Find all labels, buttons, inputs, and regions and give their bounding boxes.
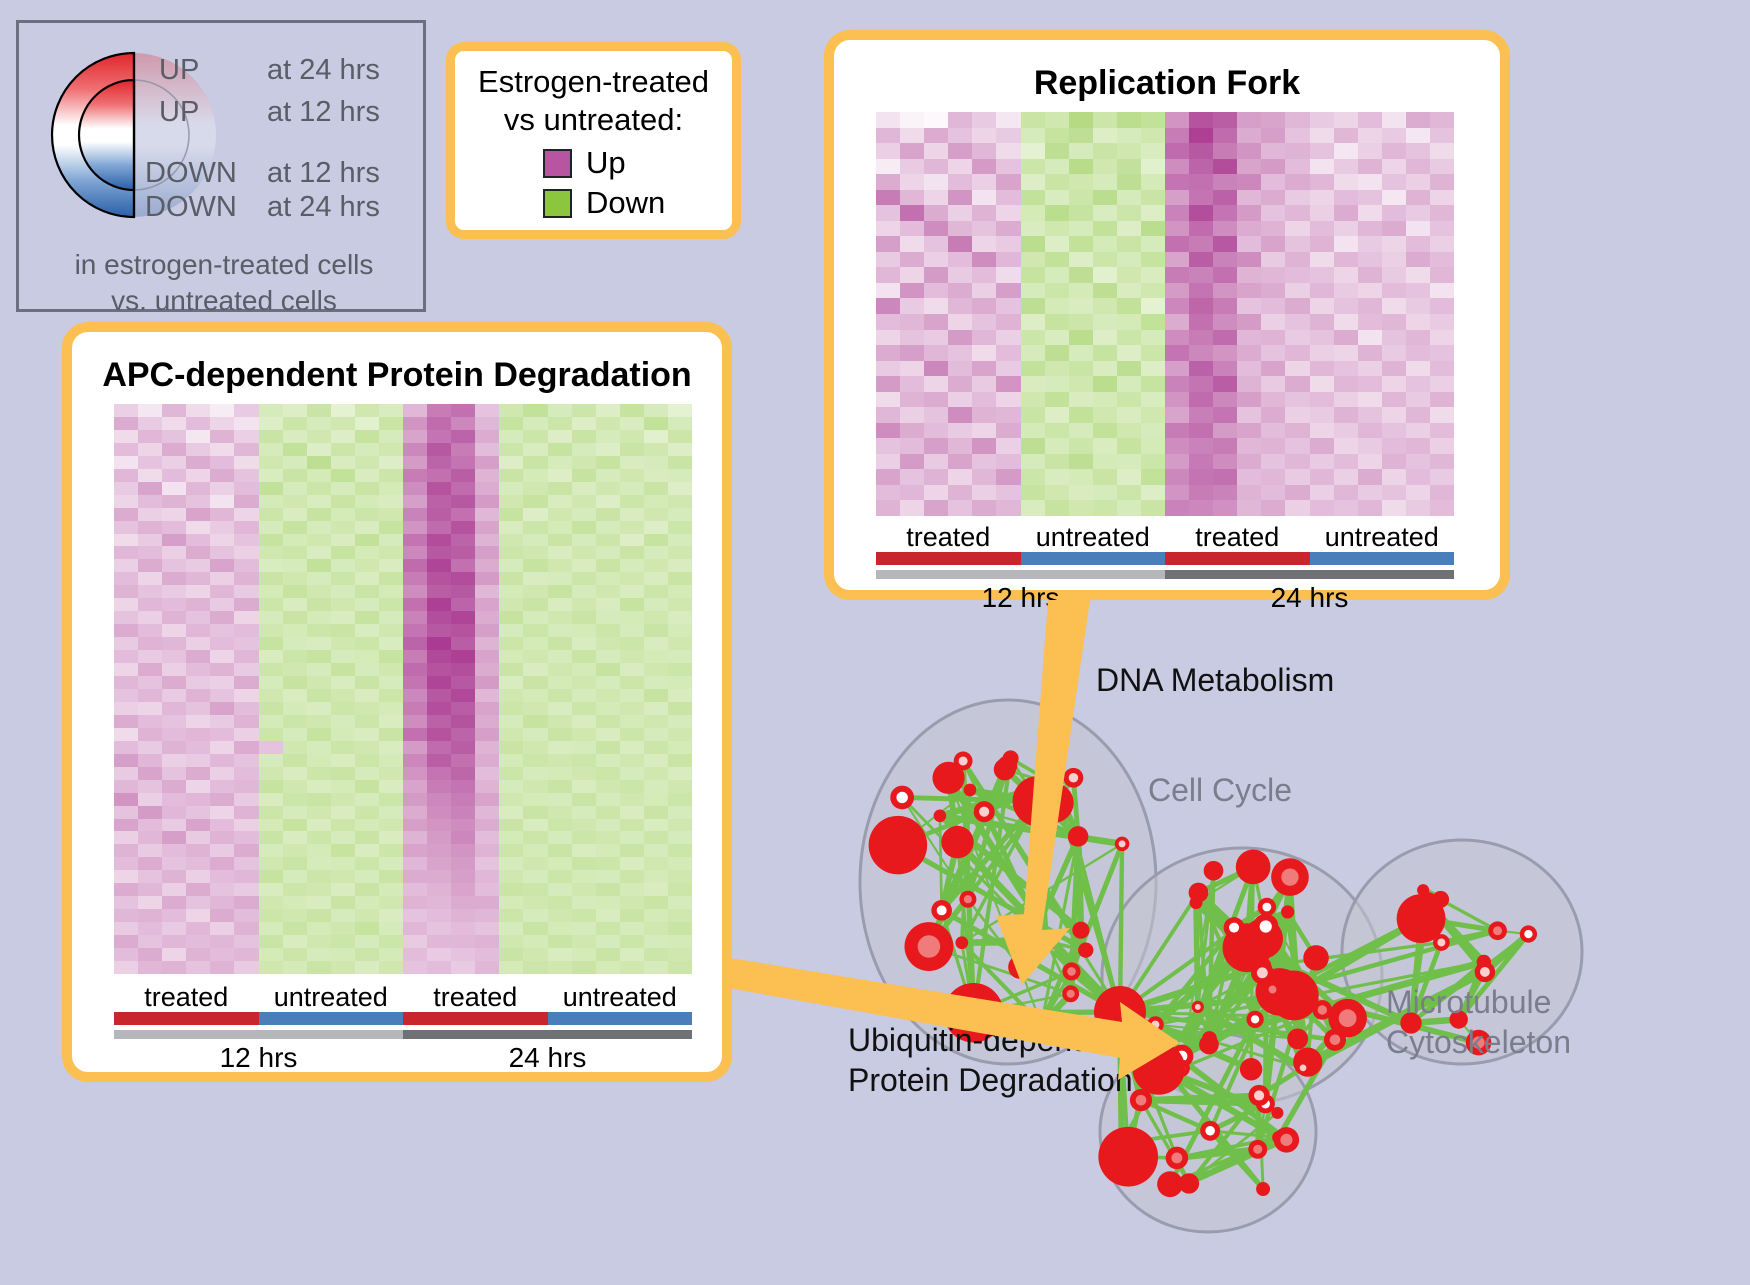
heat-cell xyxy=(1093,236,1117,252)
network-node xyxy=(1098,1127,1158,1187)
heat-cell xyxy=(1261,392,1285,408)
heat-cell xyxy=(596,469,620,482)
heat-cell xyxy=(307,469,331,482)
heat-cell xyxy=(162,689,186,702)
heat-cell xyxy=(451,793,475,806)
heat-cell xyxy=(1141,469,1165,485)
heat-cell xyxy=(234,495,258,508)
heat-cell xyxy=(900,283,924,299)
heat-cell xyxy=(427,896,451,909)
heat-cell xyxy=(1141,205,1165,221)
heat-cell xyxy=(644,508,668,521)
heat-cell xyxy=(403,922,427,935)
heat-cell xyxy=(186,883,210,896)
heat-cell xyxy=(355,624,379,637)
heat-cell xyxy=(1237,500,1261,516)
heat-cell xyxy=(1237,438,1261,454)
heat-cell xyxy=(596,689,620,702)
heat-cell xyxy=(1237,128,1261,144)
heat-cell xyxy=(596,495,620,508)
heat-cell xyxy=(1165,143,1189,159)
heat-cell xyxy=(331,456,355,469)
heat-cell xyxy=(1093,252,1117,268)
heat-cell xyxy=(307,534,331,547)
heat-cell xyxy=(138,521,162,534)
network-node xyxy=(1271,1107,1283,1119)
heat-cell xyxy=(138,844,162,857)
heat-cell xyxy=(283,559,307,572)
heat-cell xyxy=(900,392,924,408)
heat-cell xyxy=(379,443,403,456)
heat-cell xyxy=(355,663,379,676)
heat-cell xyxy=(972,454,996,470)
legend-updown-title-line1: Estrogen-treated xyxy=(455,63,732,101)
heat-cell xyxy=(499,443,523,456)
legend-item-down: Down xyxy=(543,185,665,221)
heat-cell xyxy=(924,205,948,221)
heat-cell xyxy=(1406,205,1430,221)
heat-cell xyxy=(162,611,186,624)
heat-cell xyxy=(427,572,451,585)
heat-cell xyxy=(948,112,972,128)
heat-cell xyxy=(283,650,307,663)
heat-cell xyxy=(1261,423,1285,439)
heat-cell xyxy=(307,819,331,832)
legend-subtitle: in estrogen-treated cells vs. untreated … xyxy=(19,247,429,319)
heat-cell xyxy=(572,637,596,650)
heat-cell xyxy=(1165,500,1189,516)
heat-cell xyxy=(259,741,283,754)
heat-cell xyxy=(523,482,547,495)
heat-cell xyxy=(475,793,499,806)
heat-cell xyxy=(876,267,900,283)
heat-cell xyxy=(1021,159,1045,175)
heat-cell xyxy=(548,521,572,534)
heat-cell xyxy=(572,909,596,922)
heat-cell xyxy=(379,469,403,482)
heat-cell xyxy=(114,715,138,728)
heat-cell xyxy=(138,909,162,922)
heat-cell xyxy=(355,844,379,857)
heat-cell xyxy=(596,456,620,469)
heat-cell xyxy=(114,443,138,456)
heat-cell xyxy=(972,221,996,237)
heat-cell xyxy=(1358,205,1382,221)
heat-cell xyxy=(900,407,924,423)
heat-cell xyxy=(259,780,283,793)
heat-cell xyxy=(1165,221,1189,237)
heat-cell xyxy=(427,922,451,935)
heat-cell xyxy=(427,443,451,456)
heat-cell xyxy=(283,844,307,857)
heat-cell xyxy=(1430,407,1454,423)
heat-cell xyxy=(475,585,499,598)
heat-cell xyxy=(1310,112,1334,128)
heat-cell xyxy=(996,454,1020,470)
legend-subtitle-line2: vs. untreated cells xyxy=(19,283,429,319)
heat-cell xyxy=(283,806,307,819)
heat-cell xyxy=(1334,298,1358,314)
heat-cell xyxy=(972,407,996,423)
heat-cell xyxy=(475,702,499,715)
heat-cell xyxy=(644,883,668,896)
heat-cell xyxy=(403,430,427,443)
heat-cell xyxy=(1045,128,1069,144)
heat-cell xyxy=(114,572,138,585)
heat-cell xyxy=(331,754,355,767)
heat-cell xyxy=(668,689,692,702)
heat-cell xyxy=(620,961,644,974)
heat-cell xyxy=(307,482,331,495)
heat-cell xyxy=(876,438,900,454)
heat-cell xyxy=(1045,407,1069,423)
heat-cell xyxy=(1261,485,1285,501)
heat-cell xyxy=(403,909,427,922)
heat-cell xyxy=(1189,159,1213,175)
heat-cell xyxy=(1093,376,1117,392)
heat-cell xyxy=(499,663,523,676)
heat-cell xyxy=(186,935,210,948)
heat-cell xyxy=(379,844,403,857)
heat-cell xyxy=(596,598,620,611)
heat-cell xyxy=(210,961,234,974)
heat-cell xyxy=(1358,236,1382,252)
heat-cell xyxy=(234,637,258,650)
heat-cell xyxy=(572,559,596,572)
heat-cell xyxy=(668,443,692,456)
heat-cell xyxy=(1358,267,1382,283)
heat-cell xyxy=(1045,314,1069,330)
heat-cell xyxy=(307,793,331,806)
network-node xyxy=(1240,1058,1262,1080)
heat-cell xyxy=(355,909,379,922)
heat-cell xyxy=(210,844,234,857)
heat-cell xyxy=(1237,485,1261,501)
heat-cell xyxy=(114,806,138,819)
heat-cell xyxy=(355,546,379,559)
heat-cell xyxy=(523,495,547,508)
time-bar xyxy=(1165,570,1454,579)
heat-cell xyxy=(427,754,451,767)
heat-cell xyxy=(620,883,644,896)
heat-cell xyxy=(427,689,451,702)
heat-cell xyxy=(572,546,596,559)
heat-cell xyxy=(427,611,451,624)
heat-cell xyxy=(1069,252,1093,268)
heat-cell xyxy=(620,598,644,611)
heat-cell xyxy=(114,883,138,896)
heat-cell xyxy=(523,430,547,443)
heat-cell xyxy=(234,715,258,728)
heat-cell xyxy=(210,546,234,559)
heat-cell xyxy=(403,663,427,676)
heat-cell xyxy=(427,663,451,676)
heat-cell xyxy=(331,559,355,572)
heat-cell xyxy=(572,521,596,534)
heat-cell xyxy=(1141,438,1165,454)
heat-cell xyxy=(331,806,355,819)
heat-cell xyxy=(186,456,210,469)
heat-cell xyxy=(1261,205,1285,221)
heat-cell xyxy=(996,283,1020,299)
heat-cell xyxy=(1285,298,1309,314)
heat-cell xyxy=(427,456,451,469)
heat-cell xyxy=(596,624,620,637)
heat-cell xyxy=(307,572,331,585)
heat-cell xyxy=(283,521,307,534)
heat-cell xyxy=(668,896,692,909)
heat-cell xyxy=(620,624,644,637)
heat-cell xyxy=(403,585,427,598)
heat-cell xyxy=(572,585,596,598)
heat-cell xyxy=(1334,361,1358,377)
heat-cell xyxy=(972,236,996,252)
heat-cell xyxy=(523,728,547,741)
network-node xyxy=(1303,945,1329,971)
heat-cell xyxy=(331,430,355,443)
heat-cell xyxy=(1093,438,1117,454)
heat-cell xyxy=(1382,485,1406,501)
heat-cell xyxy=(307,689,331,702)
figure-canvas: UP at 24 hrs UP at 12 hrs DOWN at 12 hrs… xyxy=(0,0,1750,1279)
heat-cell xyxy=(499,482,523,495)
heat-cell xyxy=(475,961,499,974)
heat-cell xyxy=(259,715,283,728)
heat-cell xyxy=(307,495,331,508)
heat-cell xyxy=(996,438,1020,454)
heat-cell xyxy=(1334,407,1358,423)
heat-cell xyxy=(355,572,379,585)
heat-cell xyxy=(1141,330,1165,346)
heat-cell xyxy=(355,611,379,624)
heat-cell xyxy=(162,870,186,883)
heat-cell xyxy=(620,715,644,728)
heat-cell xyxy=(1358,330,1382,346)
heat-cell xyxy=(283,495,307,508)
heat-cell xyxy=(379,819,403,832)
heat-cell xyxy=(234,948,258,961)
heat-cell xyxy=(572,728,596,741)
heat-cell xyxy=(1406,500,1430,516)
heat-cell xyxy=(1382,283,1406,299)
heat-cell xyxy=(162,909,186,922)
heat-cell xyxy=(948,159,972,175)
heat-cell xyxy=(924,500,948,516)
heat-cell xyxy=(1021,423,1045,439)
heat-cell xyxy=(283,598,307,611)
heat-cell xyxy=(1430,112,1454,128)
heat-cell xyxy=(114,598,138,611)
heat-cell xyxy=(548,741,572,754)
heat-cell xyxy=(1189,221,1213,237)
heat-cell xyxy=(668,702,692,715)
heat-cell xyxy=(234,935,258,948)
heat-cell xyxy=(427,780,451,793)
heat-cell xyxy=(596,482,620,495)
heat-cell xyxy=(451,741,475,754)
heat-cell xyxy=(451,430,475,443)
heat-cell xyxy=(1117,500,1141,516)
heat-cell xyxy=(1430,485,1454,501)
heat-cell xyxy=(1285,376,1309,392)
heat-cell xyxy=(948,485,972,501)
heat-cell xyxy=(186,896,210,909)
heat-cell xyxy=(1189,438,1213,454)
heat-cell xyxy=(1069,128,1093,144)
network-node-core xyxy=(937,905,947,915)
heat-cell xyxy=(523,559,547,572)
heat-cell xyxy=(403,611,427,624)
heat-cell xyxy=(499,546,523,559)
heat-cell xyxy=(996,236,1020,252)
heat-cell xyxy=(1045,392,1069,408)
heat-cell xyxy=(379,676,403,689)
heat-cell xyxy=(620,741,644,754)
heat-cell xyxy=(331,624,355,637)
heat-cell xyxy=(668,767,692,780)
heat-cell xyxy=(1334,283,1358,299)
heat-cell xyxy=(1213,236,1237,252)
heat-cell xyxy=(114,508,138,521)
heat-cell xyxy=(403,896,427,909)
heat-cell xyxy=(283,870,307,883)
heat-cell xyxy=(259,456,283,469)
heat-cell xyxy=(186,819,210,832)
heat-cell xyxy=(451,482,475,495)
heat-cell xyxy=(1406,469,1430,485)
heat-cell xyxy=(1261,314,1285,330)
heat-cell xyxy=(162,754,186,767)
heat-cell xyxy=(234,404,258,417)
heat-cell xyxy=(668,948,692,961)
heat-cell xyxy=(548,598,572,611)
heat-cell xyxy=(596,870,620,883)
heat-cell xyxy=(210,870,234,883)
heat-cell xyxy=(114,728,138,741)
network-node-core xyxy=(1195,1004,1201,1010)
heat-cell xyxy=(548,870,572,883)
heat-cell xyxy=(1285,174,1309,190)
heat-cell xyxy=(234,663,258,676)
heat-cell xyxy=(162,469,186,482)
cluster-label-microtubule-cytoskeleton: Microtubule Cytoskeleton xyxy=(1386,982,1571,1062)
heat-cell xyxy=(523,741,547,754)
heat-cell xyxy=(876,159,900,175)
heat-cell xyxy=(1117,112,1141,128)
heat-cell xyxy=(1406,221,1430,237)
heat-cell xyxy=(1021,361,1045,377)
up-color-swatch xyxy=(543,149,572,178)
network-node xyxy=(869,816,928,875)
heat-cell xyxy=(186,430,210,443)
heat-cell xyxy=(1213,314,1237,330)
heat-cell xyxy=(644,572,668,585)
heat-cell xyxy=(996,159,1020,175)
heat-cell xyxy=(1117,252,1141,268)
heat-cell xyxy=(114,469,138,482)
heat-cell xyxy=(1358,252,1382,268)
heat-cell xyxy=(1310,221,1334,237)
heat-cell xyxy=(307,443,331,456)
heat-cell xyxy=(451,767,475,780)
heat-cell xyxy=(499,404,523,417)
heat-cell xyxy=(186,780,210,793)
heat-cell xyxy=(451,935,475,948)
heat-cell xyxy=(1285,205,1309,221)
group-label: treated xyxy=(1165,522,1310,553)
heat-cell xyxy=(620,922,644,935)
heat-cell xyxy=(403,572,427,585)
heat-cell xyxy=(972,143,996,159)
heat-cell xyxy=(403,495,427,508)
heat-cell xyxy=(499,521,523,534)
treatment-bar xyxy=(403,1012,548,1025)
heat-cell xyxy=(475,922,499,935)
heat-cell xyxy=(331,521,355,534)
heat-cell xyxy=(355,935,379,948)
heat-cell xyxy=(1358,298,1382,314)
heat-cell xyxy=(1430,236,1454,252)
heat-cell xyxy=(876,314,900,330)
heat-cell xyxy=(548,806,572,819)
heat-cell xyxy=(523,663,547,676)
heat-cell xyxy=(1310,174,1334,190)
heat-cell xyxy=(1213,407,1237,423)
heat-cell xyxy=(1237,361,1261,377)
heat-cell xyxy=(572,754,596,767)
heat-cell xyxy=(475,637,499,650)
heat-cell xyxy=(1310,423,1334,439)
heat-cell xyxy=(1093,128,1117,144)
heat-cell xyxy=(548,961,572,974)
heat-cell xyxy=(1334,485,1358,501)
heat-cell xyxy=(972,345,996,361)
heat-cell xyxy=(451,624,475,637)
heat-cell xyxy=(475,559,499,572)
heat-cell xyxy=(596,819,620,832)
heat-cell xyxy=(668,754,692,767)
heat-cell xyxy=(1165,174,1189,190)
heat-cell xyxy=(548,559,572,572)
heat-cell xyxy=(1358,485,1382,501)
heat-cell xyxy=(1358,159,1382,175)
heat-cell xyxy=(900,345,924,361)
heat-cell xyxy=(668,844,692,857)
heat-cell xyxy=(331,572,355,585)
heat-cell xyxy=(186,870,210,883)
heat-cell xyxy=(1093,454,1117,470)
heat-cell xyxy=(210,495,234,508)
heat-cell xyxy=(451,883,475,896)
heat-cell xyxy=(114,857,138,870)
heat-cell xyxy=(1189,174,1213,190)
heat-cell xyxy=(114,676,138,689)
heat-cell xyxy=(668,417,692,430)
heat-cell xyxy=(620,637,644,650)
heat-cell xyxy=(1117,283,1141,299)
heat-cell xyxy=(596,443,620,456)
network-node-core xyxy=(1251,1015,1259,1023)
heat-cell xyxy=(668,922,692,935)
heat-cell xyxy=(210,534,234,547)
heat-cell xyxy=(403,728,427,741)
heat-cell xyxy=(162,443,186,456)
heat-cell xyxy=(138,456,162,469)
heat-cell xyxy=(403,767,427,780)
heat-cell xyxy=(1141,267,1165,283)
heat-cell xyxy=(234,819,258,832)
group-label: untreated xyxy=(259,982,404,1013)
